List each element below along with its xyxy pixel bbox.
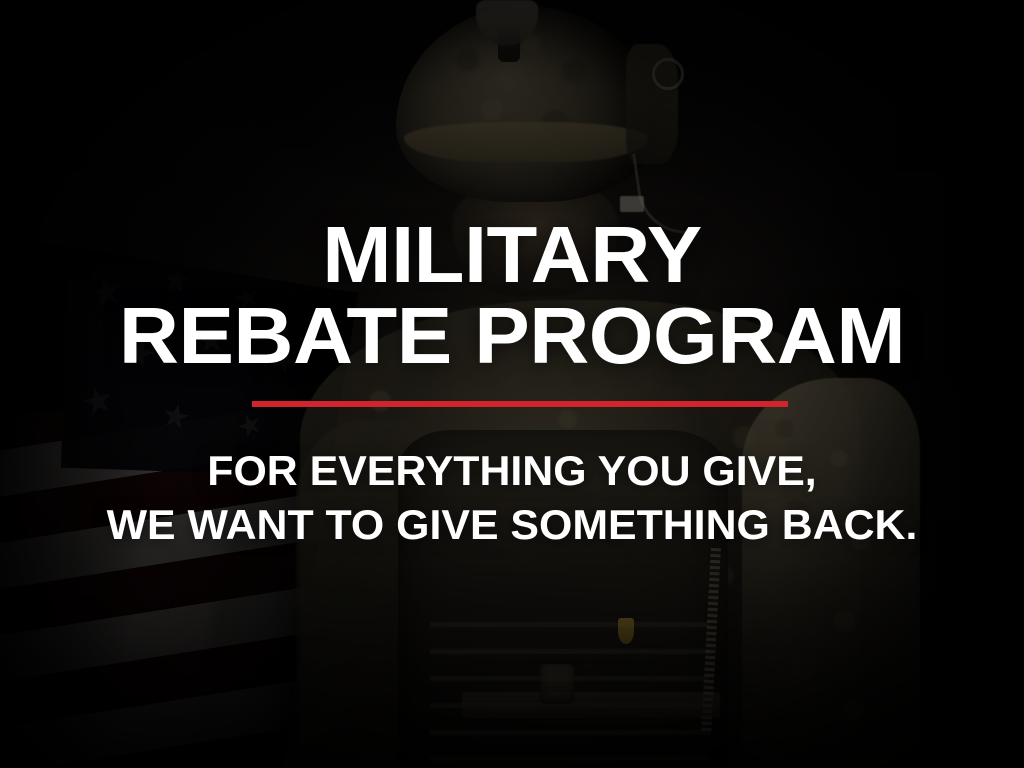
poster-canvas: MILITARY REBATE PROGRAM FOR EVERYTHING Y… (0, 0, 1024, 768)
background-photo (0, 0, 1024, 768)
photo-dim-overlay (0, 0, 1024, 768)
